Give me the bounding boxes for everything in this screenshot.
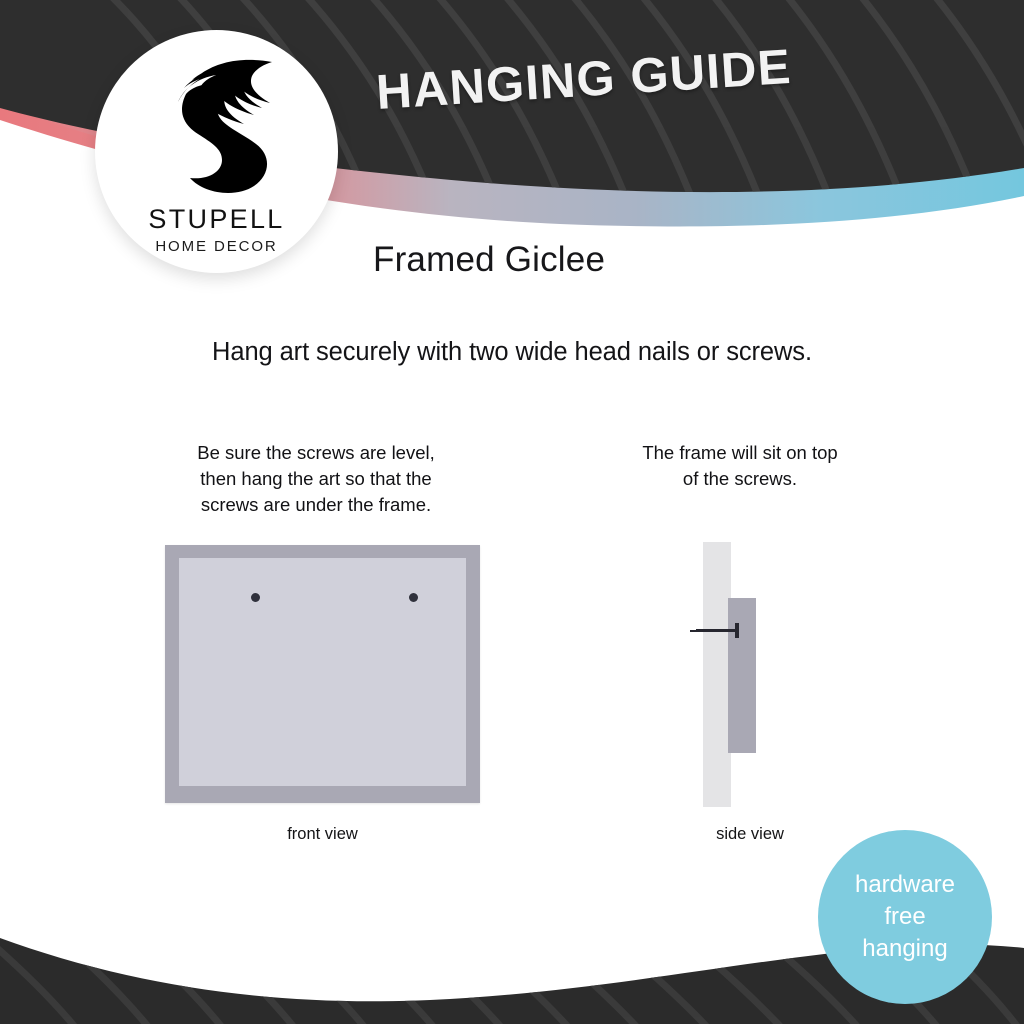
nail-shaft-icon: [696, 629, 738, 632]
front-caption-line-3: screws are under the frame.: [166, 492, 466, 518]
front-view-label-wrap: front view: [165, 825, 480, 844]
logo-wordmark: STUPELL HOME DECOR: [95, 205, 338, 255]
brand-logo-badge: STUPELL HOME DECOR: [95, 30, 338, 273]
front-view-mat: [179, 558, 466, 786]
page-title: HANGING GUIDE: [375, 39, 793, 121]
side-view-label: side view: [630, 825, 870, 844]
hanging-guide-page: STUPELL HOME DECOR HANGING GUIDE Framed …: [0, 0, 1024, 1024]
side-view-illustration: [690, 542, 800, 807]
front-view-label: front view: [165, 825, 480, 844]
front-caption-line-2: then hang the art so that the: [166, 466, 466, 492]
front-view-frame-illustration: [165, 545, 480, 803]
main-instruction-text: Hang art securely with two wide head nai…: [0, 338, 1024, 367]
hardware-free-hanging-badge: hardware free hanging: [818, 830, 992, 1004]
product-type-title: Framed Giclee: [373, 240, 605, 280]
screw-dot-left: [251, 593, 260, 602]
side-view-wall: [703, 542, 731, 807]
screw-dot-right: [409, 593, 418, 602]
side-view-column: The frame will sit on top of the screws.…: [590, 440, 890, 492]
nail-head-icon: [735, 623, 739, 638]
side-view-label-wrap: side view: [630, 825, 870, 844]
logo-brand-text: STUPELL: [95, 205, 338, 233]
badge-line-3: hanging: [862, 933, 947, 965]
side-caption-line-1: The frame will sit on top: [590, 440, 890, 466]
side-view-caption: The frame will sit on top of the screws.: [590, 440, 890, 492]
front-caption-line-1: Be sure the screws are level,: [166, 440, 466, 466]
stupell-swoosh-icon: [156, 52, 278, 202]
front-view-caption: Be sure the screws are level, then hang …: [166, 440, 466, 518]
badge-line-1: hardware: [855, 869, 955, 901]
badge-line-2: free: [884, 901, 925, 933]
side-caption-line-2: of the screws.: [590, 466, 890, 492]
side-view-frame: [728, 598, 756, 753]
front-view-column: Be sure the screws are level, then hang …: [150, 440, 510, 518]
logo-tagline-text: HOME DECOR: [95, 238, 338, 255]
